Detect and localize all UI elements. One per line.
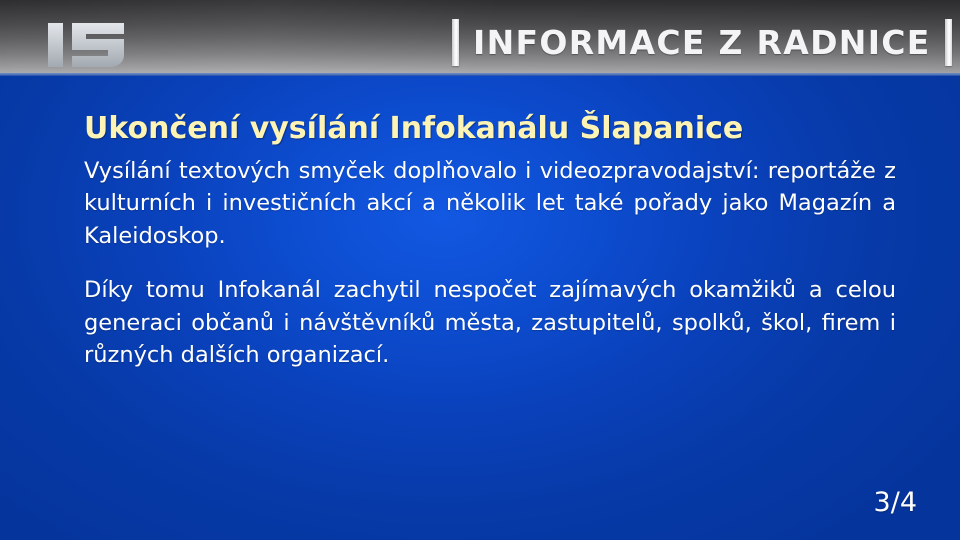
header-title: INFORMACE Z RADNICE [473,26,931,59]
page-indicator: 3/4 [874,489,917,516]
header-title-group: INFORMACE Z RADNICE [452,18,952,66]
header-bar: INFORMACE Z RADNICE [0,0,960,76]
body-paragraph-1: Vysílání textových smyček doplňovalo i v… [84,155,896,252]
body-paragraph-2: Díky tomu Infokanál zachytil nespočet za… [84,274,896,371]
is-logo [46,21,138,69]
vertical-bar-right-icon [945,19,952,66]
slide-canvas: INFORMACE Z RADNICE Ukončení vysílání In… [0,0,960,540]
vertical-bar-left-icon [452,19,459,66]
header-divider-rule [0,73,960,76]
slide-body: Vysílání textových smyček doplňovalo i v… [84,155,896,371]
slide-title: Ukončení vysílání Infokanálu Šlapanice [84,112,914,147]
